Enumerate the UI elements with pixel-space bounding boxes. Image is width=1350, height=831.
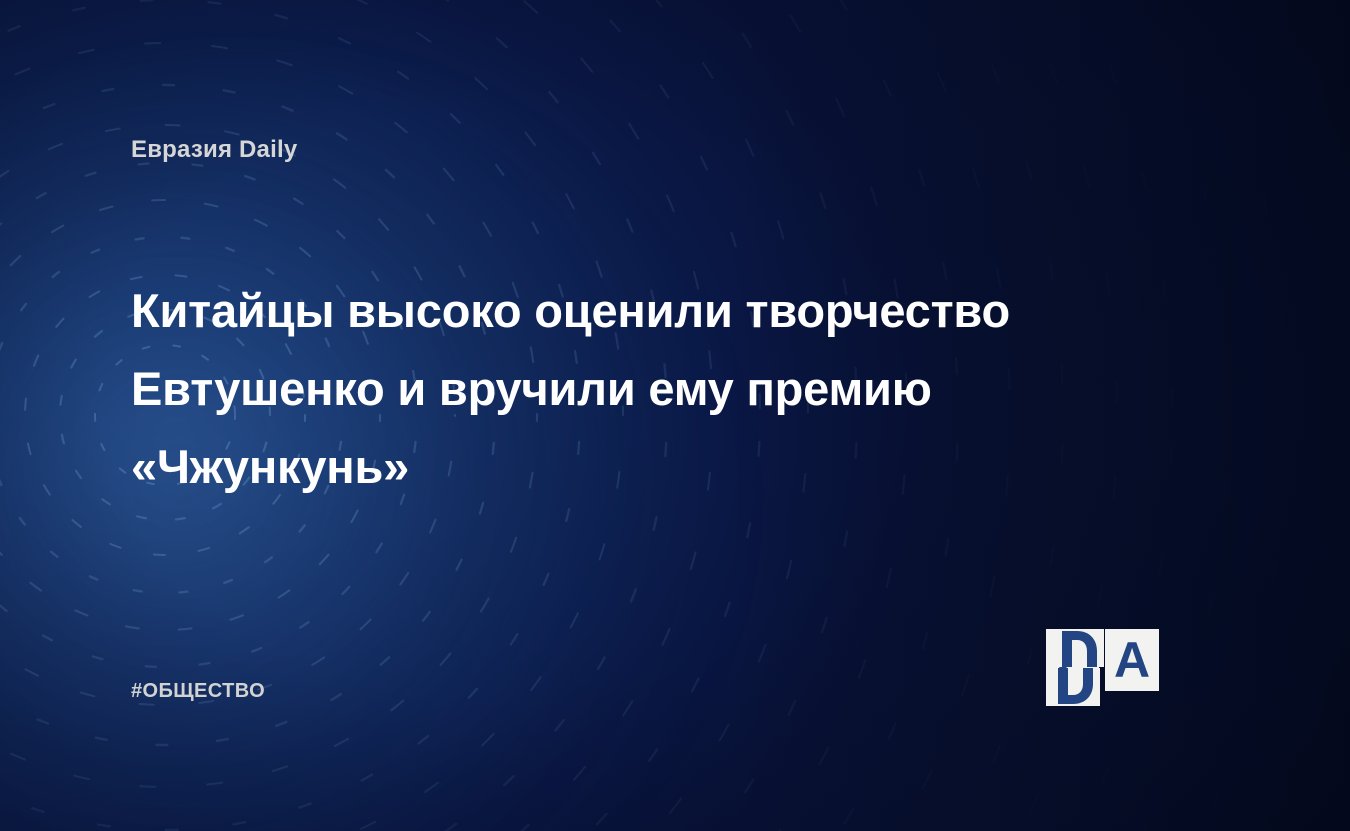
page-title: Китайцы высоко оценили творчество Евтуше… xyxy=(131,272,1151,506)
headline-line-3: «Чжункунь» xyxy=(131,428,1151,506)
site-logo-wordmark[interactable]: Евразия Daily xyxy=(131,136,297,164)
letter-d-top-icon xyxy=(1050,629,1104,667)
ead-tile-d-top-half xyxy=(1050,629,1104,667)
headline-line-2: Евтушенко и вручили ему премию xyxy=(131,350,1151,428)
news-share-card: Евразия Daily Китайцы высоко оценили тво… xyxy=(0,0,1350,831)
headline-line-1: Китайцы высоко оценили творчество xyxy=(131,272,1151,350)
ead-tile-d-bottom-half xyxy=(1046,668,1100,706)
topic-tag[interactable]: #ОБЩЕСТВО xyxy=(131,680,265,703)
ead-logo[interactable]: E A xyxy=(1046,629,1222,706)
letter-d-bottom-icon xyxy=(1046,668,1100,706)
ead-tile-a: A xyxy=(1105,629,1158,691)
ead-tile-d xyxy=(1165,629,1222,706)
